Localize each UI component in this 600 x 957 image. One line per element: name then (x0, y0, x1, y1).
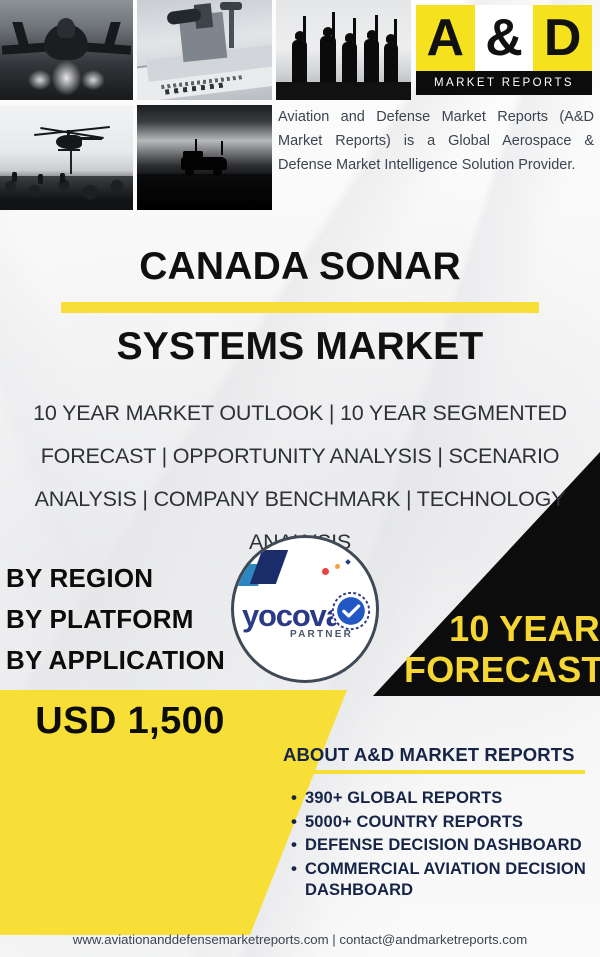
soldier-silhouette (342, 42, 357, 84)
footer-contact[interactable]: www.aviationanddefensemarketreports.com … (0, 932, 600, 947)
page-title-line2: SYSTEMS MARKET (0, 325, 600, 369)
decorative-sparkle (345, 559, 351, 565)
helicopter-scene (0, 105, 133, 210)
list-item: DEFENSE DECISION DASHBOARD (305, 835, 593, 857)
military-vehicle-photo (137, 105, 272, 210)
rifle-icon (332, 12, 335, 42)
list-item: COMMERCIAL AVIATION DECISION DASHBOARD (305, 859, 593, 902)
soldier-silhouette (364, 39, 379, 84)
fighter-jet-photo (0, 0, 133, 100)
about-heading: ABOUT A&D MARKET REPORTS (283, 744, 593, 766)
list-item: 5000+ COUNTRY REPORTS (305, 812, 593, 834)
ship-radar (220, 2, 242, 10)
vehicle-antenna (221, 141, 223, 155)
forecast-line1: 10 YEAR (404, 608, 600, 649)
yocova-partner-badge: yocova PARTNER (231, 535, 379, 683)
price-callout: USD 1,500 (0, 700, 260, 743)
segment-by-application: BY APPLICATION (6, 640, 225, 681)
soldier-silhouette (320, 36, 336, 84)
soldiers-scene (276, 0, 411, 100)
logo-letters-row: A & D (416, 5, 592, 71)
vehicle-ground (137, 174, 272, 210)
ground-troop (60, 173, 65, 183)
segmentation-list: BY REGION BY PLATFORM BY APPLICATION (6, 558, 225, 681)
rifle-icon (353, 18, 356, 48)
heli-field-ground (0, 176, 133, 210)
rifle-icon (303, 16, 306, 46)
list-item: 390+ GLOBAL REPORTS (305, 788, 593, 810)
poster: A & D MARKET REPORTS Aviation and Defens… (0, 0, 600, 957)
helicopter-photo (0, 105, 133, 210)
vehicle-wheel (185, 168, 194, 176)
vehicle-scene (137, 105, 272, 210)
ship-mast (229, 6, 234, 48)
vehicle-wheel (213, 168, 222, 176)
and-market-reports-logo: A & D MARKET REPORTS (416, 5, 592, 95)
ship-scene (137, 0, 272, 100)
about-section: ABOUT A&D MARKET REPORTS 390+ GLOBAL REP… (283, 744, 593, 904)
page-title-line1: CANADA SONAR (0, 245, 600, 289)
soldiers-ground (276, 82, 411, 100)
vehicle-cab (183, 151, 203, 159)
heli-skid (58, 149, 80, 151)
title-yellow-rule (61, 302, 539, 313)
logo-tagline-bar: MARKET REPORTS (416, 71, 592, 95)
logo-ampersand: & (475, 5, 534, 71)
forecast-line2: FORECAST (404, 649, 600, 690)
jet-scene (0, 0, 133, 100)
ground-troop (12, 172, 17, 182)
segment-by-platform: BY PLATFORM (6, 599, 225, 640)
soldier-silhouette (384, 43, 398, 84)
soldier-silhouette (292, 40, 307, 84)
yocova-mark-dark (250, 550, 288, 584)
soldiers-silhouette-photo (276, 0, 411, 100)
logo-tagline: MARKET REPORTS (434, 77, 574, 89)
decorative-dot-red (322, 568, 329, 575)
forecast-callout: 10 YEAR FORECAST (404, 608, 600, 690)
decorative-dot-orange (335, 564, 340, 569)
jet-canopy (57, 18, 75, 38)
logo-letter-a: A (416, 5, 475, 71)
about-bullet-list: 390+ GLOBAL REPORTS 5000+ COUNTRY REPORT… (283, 788, 593, 902)
rifle-icon (394, 19, 397, 49)
segment-by-region: BY REGION (6, 558, 225, 599)
about-yellow-rule (283, 770, 585, 774)
verified-check-icon (330, 590, 372, 632)
report-title-block: CANADA SONAR SYSTEMS MARKET (0, 245, 600, 368)
naval-ship-photo (137, 0, 272, 100)
ground-troop (38, 174, 43, 184)
company-intro-paragraph: Aviation and Defense Market Reports (A&D… (278, 105, 594, 177)
panel-edge (347, 690, 600, 700)
rifle-icon (375, 15, 378, 45)
heli-sling-line (70, 150, 72, 174)
logo-letter-d: D (533, 5, 592, 71)
price-amount: USD 1,500 (0, 700, 260, 743)
